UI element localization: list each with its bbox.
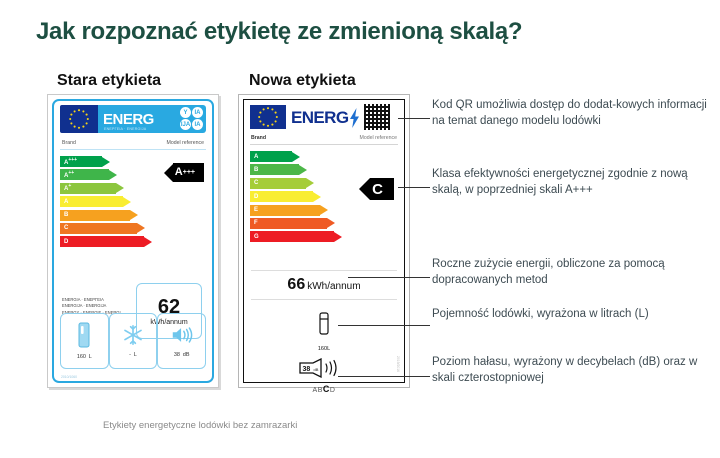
scale-row-b: B: [250, 164, 398, 175]
connector-line-4: [338, 325, 430, 326]
eu-flag-icon: [250, 105, 286, 129]
page-title: Jak rozpoznać etykietę ze zmienioną skal…: [36, 18, 522, 46]
new-energy-value: 66: [287, 276, 305, 293]
fridge-icon: [76, 322, 92, 348]
noise-class-c: C: [323, 384, 330, 394]
annotation-text-3: Roczne zużycie energii, obliczone za pom…: [432, 256, 710, 289]
scale-row-b: B: [60, 210, 206, 221]
scale-label: D: [254, 194, 258, 200]
old-noise-unit: dB: [183, 352, 190, 358]
scale-label: C: [254, 180, 258, 186]
old-regulation-text: 2010/1060: [61, 375, 77, 379]
fridge-icon: [317, 312, 331, 336]
lightning-bolt-icon: [349, 108, 360, 128]
annotation-text-1: Kod QR umożliwia dostęp do dodat-kowych …: [432, 97, 710, 130]
old-model-text: Model reference: [167, 140, 205, 146]
connector-line-2: [398, 187, 430, 188]
old-label-heading: Stara etykieta: [57, 72, 161, 90]
old-capacity-unit: L: [89, 354, 92, 360]
old-rating-arrow: A+++: [164, 163, 204, 182]
new-capacity-block: 160L: [244, 312, 404, 352]
new-label-heading: Nowa etykieta: [249, 72, 356, 90]
new-energy-consumption-strip: 66kWh/annum: [251, 270, 397, 300]
connector-line-1: [398, 118, 430, 119]
badge-3: IJA: [180, 119, 191, 130]
figure-caption: Etykiety energetyczne lodówki bez zamraz…: [103, 420, 297, 431]
new-label-header: ENERG: [250, 105, 398, 129]
new-rating-arrow: C: [359, 178, 394, 200]
snowflake-icon: [122, 324, 144, 346]
scale-label: A++: [64, 171, 74, 179]
svg-text:38: 38: [303, 366, 311, 373]
scale-label: B: [254, 167, 258, 173]
old-freezer-unit: L: [134, 352, 137, 358]
annotation-text-4: Pojemność lodówki, wyrażona w litrach (L…: [432, 306, 710, 322]
new-regulation-text: 2019/2016: [396, 356, 400, 372]
scale-row-d: D: [60, 236, 206, 247]
scale-label: G: [254, 234, 259, 240]
old-label-header: ENERG ENEPΓEIA · ENERGIJA Y IA IJA IA: [60, 105, 206, 133]
connector-line-3: [348, 277, 430, 278]
annotation-text-2: Klasa efektywności energetycznej zgodnie…: [432, 166, 710, 199]
new-energ-wordmark: ENERG: [291, 109, 348, 126]
connector-line-5: [338, 376, 430, 377]
old-noise-value: 38: [174, 352, 180, 358]
scale-label: F: [254, 220, 258, 226]
old-energy-label: ENERG ENEPΓEIA · ENERGIJA Y IA IJA IA Br…: [47, 94, 219, 388]
badge-1: Y: [180, 107, 191, 118]
new-energy-unit: kWh/annum: [307, 281, 360, 292]
old-capacity-value: 160: [77, 354, 86, 360]
qr-code-icon: [364, 104, 390, 130]
badge-2: IA: [192, 107, 203, 118]
scale-row-a: A: [60, 196, 206, 207]
scale-label: A+++: [64, 158, 77, 166]
scale-label: A: [64, 199, 68, 205]
scale-row-f: F: [250, 218, 398, 229]
scale-label: C: [64, 225, 68, 231]
scale-label: A: [254, 154, 258, 160]
speaker-icon: [170, 324, 194, 346]
scale-row-g: G: [250, 231, 398, 242]
old-freezer-value: -: [129, 352, 131, 358]
badge-4: IA: [192, 119, 203, 130]
new-model-text: Model reference: [360, 135, 398, 141]
new-brand-row: Brand Model reference: [250, 135, 398, 145]
scale-label: D: [64, 239, 68, 245]
old-energ-subtext: ENEPΓEIA · ENERGIJA: [104, 127, 146, 131]
old-capacity-box: 160 L: [60, 313, 109, 369]
scale-row-e: E: [250, 205, 398, 216]
new-capacity-unit: L: [327, 346, 330, 352]
svg-text:dB: dB: [314, 367, 319, 372]
scale-row-a+: A+: [60, 183, 206, 194]
scale-label: B: [64, 212, 68, 218]
old-freezer-box: - L: [109, 313, 158, 369]
old-rating-sup: +++: [183, 169, 195, 176]
noise-class-d: D: [330, 387, 336, 394]
new-brand-text: Brand: [251, 135, 266, 141]
new-capacity-value: 160: [318, 346, 327, 352]
eu-flag-icon: [60, 105, 98, 133]
scale-row-c: C: [60, 223, 206, 234]
new-energy-label: ENERG Brand Model reference ABCDEFG C 66…: [238, 94, 410, 388]
speaker-icon: 38 dB: [296, 358, 352, 378]
scale-label: A+: [64, 184, 71, 192]
old-icon-row: 160 L - L: [60, 313, 206, 369]
infographic-root: Jak rozpoznać etykietę ze zmienioną skal…: [0, 0, 720, 458]
scale-label: E: [254, 207, 258, 213]
new-noise-class-scale: ABCD: [244, 384, 404, 394]
old-noise-box: 38 dB: [157, 313, 206, 369]
annotation-text-5: Poziom hałasu, wyrażony w decybelach (dB…: [432, 354, 710, 387]
new-rating-letter: C: [370, 178, 394, 200]
old-brand-text: Brand: [62, 140, 76, 146]
scale-row-a: A: [250, 151, 398, 162]
old-language-badges: Y IA IJA IA: [180, 107, 203, 130]
old-rating-letter: A: [175, 167, 183, 178]
old-brand-row: Brand Model reference: [60, 140, 206, 150]
old-energ-wordmark: ENERG: [103, 112, 154, 127]
